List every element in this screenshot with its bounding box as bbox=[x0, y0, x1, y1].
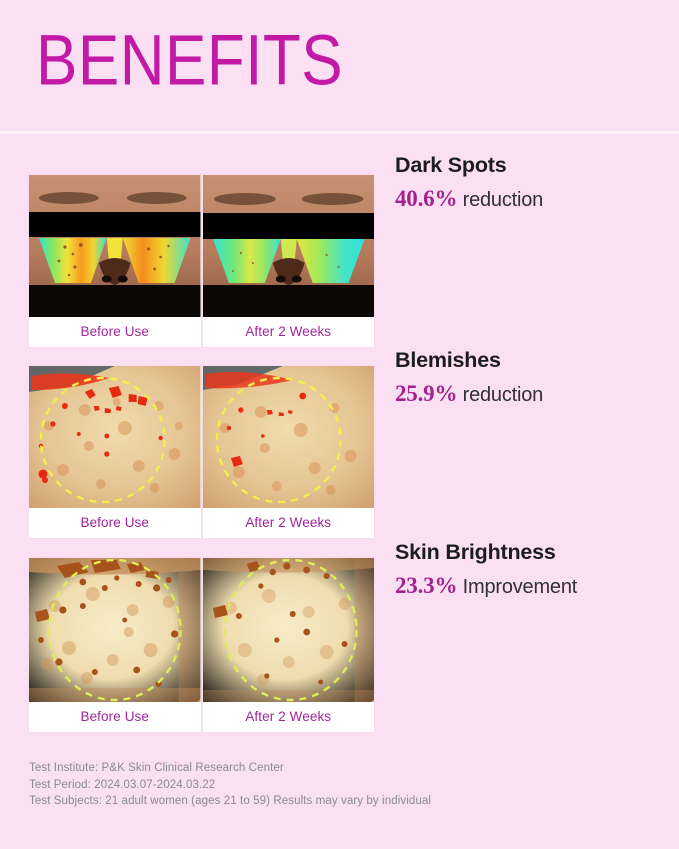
uv-heatmap-face-before-image bbox=[29, 175, 201, 317]
before-after-pair: Before Use bbox=[29, 366, 374, 538]
before-after-pair: Before Use bbox=[29, 558, 374, 732]
page-title: BENEFITS bbox=[36, 26, 343, 97]
test-institute-line: Test Institute: P&K Skin Clinical Resear… bbox=[29, 760, 649, 777]
stat-block-dark-spots: Dark Spots 40.6% reduction bbox=[395, 153, 543, 212]
stat-title: Dark Spots bbox=[395, 153, 543, 179]
stat-change-word: reduction bbox=[463, 384, 543, 406]
before-panel: Before Use bbox=[29, 558, 201, 732]
skin-closeup-brightness-after-image bbox=[203, 558, 375, 702]
stat-block-blemishes: Blemishes 25.9% reduction bbox=[395, 348, 543, 407]
stat-change-word: reduction bbox=[463, 189, 543, 211]
after-label: After 2 Weeks bbox=[203, 702, 375, 732]
skin-closeup-brightness-before-image bbox=[29, 558, 201, 702]
test-subjects-line: Test Subjects: 21 adult women (ages 21 t… bbox=[29, 793, 649, 810]
stat-title: Skin Brightness bbox=[395, 540, 577, 566]
after-panel: After 2 Weeks bbox=[203, 366, 375, 538]
header-divider bbox=[0, 131, 679, 134]
before-label: Before Use bbox=[29, 702, 201, 732]
after-label: After 2 Weeks bbox=[203, 317, 375, 347]
before-panel: Before Use bbox=[29, 366, 201, 538]
result-row-blemishes: Before Use bbox=[0, 366, 679, 556]
after-panel: After 2 Weeks bbox=[203, 558, 375, 732]
result-row-skin-brightness: Before Use bbox=[0, 558, 679, 750]
stat-title: Blemishes bbox=[395, 348, 543, 374]
stat-block-skin-brightness: Skin Brightness 23.3% Improvement bbox=[395, 540, 577, 599]
before-label: Before Use bbox=[29, 317, 201, 347]
uv-heatmap-face-after-image bbox=[203, 175, 375, 317]
skin-closeup-red-spots-after-image bbox=[203, 366, 375, 508]
before-after-pair: Before Use bbox=[29, 175, 374, 347]
before-panel: Before Use bbox=[29, 175, 201, 347]
before-label: Before Use bbox=[29, 508, 201, 538]
test-period-line: Test Period: 2024.03.07-2024.03.22 bbox=[29, 777, 649, 794]
stat-percent: 40.6% bbox=[395, 186, 457, 211]
stat-value-line: 23.3% Improvement bbox=[395, 572, 577, 600]
result-row-dark-spots: Before Use bbox=[0, 175, 679, 365]
page-header: BENEFITS bbox=[0, 0, 679, 132]
stat-change-word: Improvement bbox=[463, 576, 578, 598]
after-panel: After 2 Weeks bbox=[203, 175, 375, 347]
study-disclaimer: Test Institute: P&K Skin Clinical Resear… bbox=[29, 760, 649, 810]
after-label: After 2 Weeks bbox=[203, 508, 375, 538]
stat-value-line: 25.9% reduction bbox=[395, 380, 543, 408]
stat-percent: 25.9% bbox=[395, 381, 457, 406]
skin-closeup-red-spots-before-image bbox=[29, 366, 201, 508]
stat-value-line: 40.6% reduction bbox=[395, 185, 543, 213]
stat-percent: 23.3% bbox=[395, 573, 457, 598]
